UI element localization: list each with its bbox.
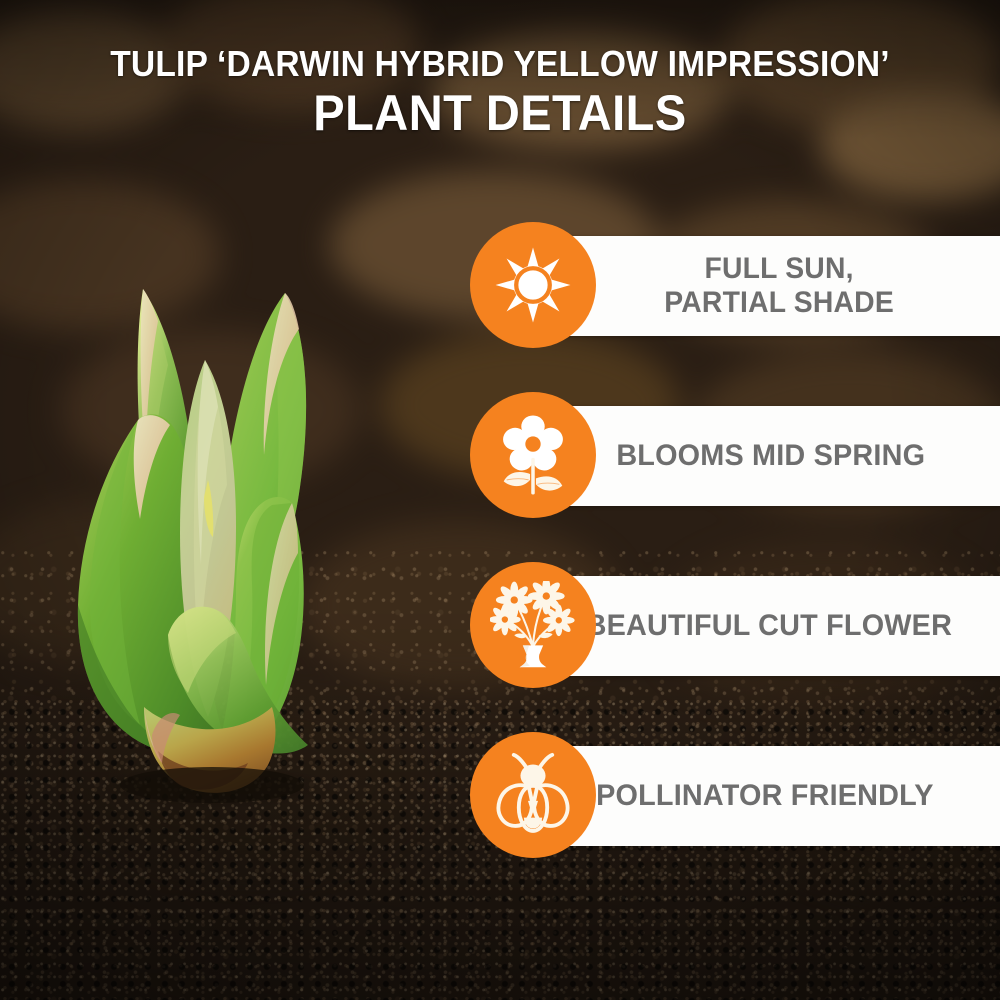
feature-label: BEAUTIFUL CUT FLOWER: [568, 609, 967, 644]
feature-badge-sun: [470, 222, 596, 348]
sun-icon: [494, 246, 572, 324]
feature-row[interactable]: POLLINATOR FRIENDLY: [0, 732, 1000, 858]
flower-icon: [496, 414, 570, 496]
flower-vase-icon: [490, 581, 576, 669]
feature-bar: FULL SUN, PARTIAL SHADE: [536, 236, 1000, 336]
feature-bar: BLOOMS MID SPRING: [536, 406, 1000, 506]
feature-row[interactable]: BLOOMS MID SPRING: [0, 392, 1000, 518]
feature-badge-flower: [470, 392, 596, 518]
plant-details-infographic: FULL SUN, PARTIAL SHADE: [0, 0, 1000, 1000]
feature-badge-cut-flower: [470, 562, 596, 688]
feature-row[interactable]: BEAUTIFUL CUT FLOWER: [0, 562, 1000, 688]
feature-list: FULL SUN, PARTIAL SHADE: [0, 222, 1000, 858]
feature-row[interactable]: FULL SUN, PARTIAL SHADE: [0, 222, 1000, 348]
feature-badge-pollinator: [470, 732, 596, 858]
feature-bar: BEAUTIFUL CUT FLOWER: [536, 576, 1000, 676]
feature-label: POLLINATOR FRIENDLY: [587, 779, 950, 814]
feature-label: FULL SUN, PARTIAL SHADE: [626, 252, 909, 320]
bee-icon: [487, 749, 579, 841]
feature-bar: POLLINATOR FRIENDLY: [536, 746, 1000, 846]
feature-label: BLOOMS MID SPRING: [595, 439, 940, 474]
